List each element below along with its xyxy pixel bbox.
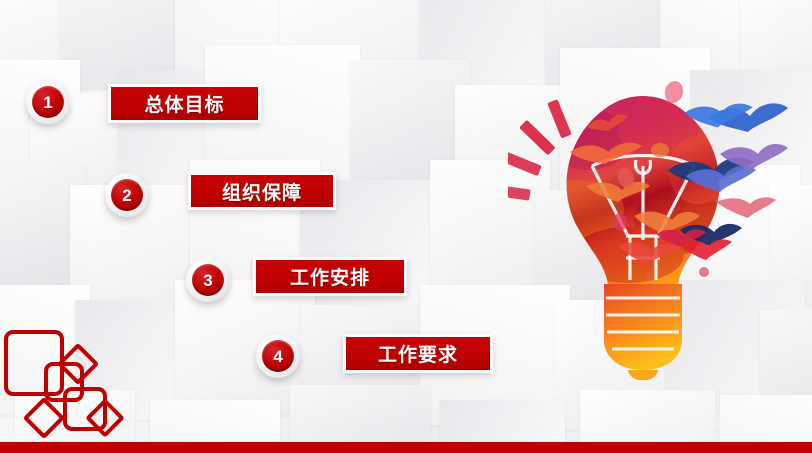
agenda-label-text-1: 总体目标 (111, 87, 258, 120)
slide-canvas: 1 总体目标 2 组织保障 3 工作安排 4 工作要求 (0, 0, 812, 453)
agenda-number-3: 3 (192, 264, 224, 296)
agenda-label-4[interactable]: 工作要求 (343, 334, 493, 373)
agenda-label-text-4: 工作要求 (346, 337, 490, 370)
agenda-number-2: 2 (111, 179, 143, 211)
ray-group (508, 99, 572, 200)
agenda-label-3[interactable]: 工作安排 (253, 257, 407, 296)
agenda-label-2[interactable]: 组织保障 (188, 172, 336, 210)
bulb-base (604, 284, 682, 380)
agenda-number-1: 1 (32, 86, 64, 118)
agenda-number-4: 4 (262, 340, 294, 372)
agenda-label-text-3: 工作安排 (256, 260, 404, 293)
agenda-number-circle-4[interactable]: 4 (256, 334, 300, 378)
agenda-number-circle-2[interactable]: 2 (105, 173, 149, 217)
agenda-label-1[interactable]: 总体目标 (108, 84, 261, 123)
lightbulb-artwork (508, 40, 812, 380)
agenda-number-circle-1[interactable]: 1 (26, 80, 70, 124)
bottom-accent-bar (0, 442, 812, 453)
agenda-number-circle-3[interactable]: 3 (186, 258, 230, 302)
agenda-label-text-2: 组织保障 (191, 175, 333, 207)
